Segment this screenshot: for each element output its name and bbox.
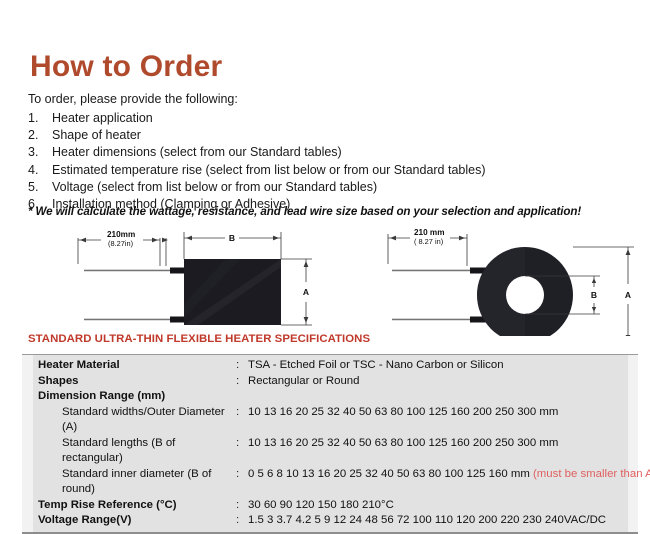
rect-lead-length-in: (8.27in) xyxy=(108,239,133,248)
list-item: 2. Shape of heater xyxy=(28,127,628,144)
row-colon: : xyxy=(236,405,248,421)
table-row: Heater Material : TSA - Etched Foil or T… xyxy=(22,358,638,374)
row-value: 30 60 90 120 150 180 210°C xyxy=(248,498,638,514)
row-colon: : xyxy=(236,374,248,390)
list-item-number: 5. xyxy=(28,179,52,196)
list-item: 1. Heater application xyxy=(28,110,628,127)
round-lead-length-mm: 210 mm xyxy=(414,228,445,237)
row-label: Standard widths/Outer Diameter (A) xyxy=(38,405,236,436)
list-item-label: Voltage (select from list below or from … xyxy=(52,179,628,196)
row-colon: : xyxy=(236,467,248,483)
list-item-number: 3. xyxy=(28,144,52,161)
row-value-with-warning: 0 5 6 8 10 13 16 20 25 32 40 50 63 80 10… xyxy=(248,467,650,483)
row-label: Heater Material xyxy=(38,358,236,374)
table-row: Voltage Range(V) : 1.5 3 3.7 4.2 5 9 12 … xyxy=(22,513,638,529)
table-row: Standard inner diameter (B of round) : 0… xyxy=(22,467,638,498)
list-item-label: Shape of heater xyxy=(52,127,628,144)
list-item-number: 1. xyxy=(28,110,52,127)
table-row: Dimension Range (mm) xyxy=(22,389,638,405)
row-value: TSA - Etched Foil or TSC - Nano Carbon o… xyxy=(248,358,638,374)
lead-crimp-top xyxy=(170,268,186,274)
row-colon: : xyxy=(236,513,248,529)
table-row: Temp Rise Reference (°C) : 30 60 90 120 … xyxy=(22,498,638,514)
row-colon: : xyxy=(236,358,248,374)
rect-height-label: A xyxy=(303,287,309,297)
list-item-label: Heater application xyxy=(52,110,628,127)
list-item: 4. Estimated temperature rise (select fr… xyxy=(28,162,628,179)
row-colon: : xyxy=(236,436,248,452)
list-item-label: Estimated temperature rise (select from … xyxy=(52,162,628,179)
row-value: 1.5 3 3.7 4.2 5 9 12 24 48 56 72 100 110… xyxy=(248,513,638,529)
table-row: Shapes : Rectangular or Round xyxy=(22,374,638,390)
row-value: 10 13 16 20 25 32 40 50 63 80 100 125 16… xyxy=(248,436,638,452)
row-label: Shapes xyxy=(38,374,236,390)
intro-text: To order, please provide the following: xyxy=(28,92,238,106)
lead-crimp-bottom xyxy=(170,317,186,323)
row-colon: : xyxy=(236,498,248,514)
list-item: 3. Heater dimensions (select from our St… xyxy=(28,144,628,161)
round-outer-diameter-label: A xyxy=(625,290,631,300)
table-row: Standard lengths (B of rectangular) : 10… xyxy=(22,436,638,467)
row-label: Temp Rise Reference (°C) xyxy=(38,498,236,514)
specifications-table: Heater Material : TSA - Etched Foil or T… xyxy=(22,354,638,534)
rect-width-label: B xyxy=(229,233,235,243)
row-label: Dimension Range (mm) xyxy=(38,389,236,405)
spec-section-heading: STANDARD ULTRA-THIN FLEXIBLE HEATER SPEC… xyxy=(28,333,370,345)
list-item-number: 2. xyxy=(28,127,52,144)
row-value: 0 5 6 8 10 13 16 20 25 32 40 50 63 80 10… xyxy=(248,468,530,480)
row-value: 10 13 16 20 25 32 40 50 63 80 100 125 16… xyxy=(248,405,638,421)
list-item-number: 4. xyxy=(28,162,52,179)
order-steps-list: 1. Heater application 2. Shape of heater… xyxy=(28,110,628,213)
row-value: Rectangular or Round xyxy=(248,374,638,390)
round-heater-inner-hole xyxy=(506,276,544,314)
page-title: How to Order xyxy=(30,52,222,82)
list-item: 5. Voltage (select from list below or fr… xyxy=(28,179,628,196)
heater-diagram-svg: 210mm (8.27in) B xyxy=(0,226,650,336)
round-heater-diagram: 210 mm ( 8.27 in) B xyxy=(388,228,634,336)
list-item-label: Heater dimensions (select from our Stand… xyxy=(52,144,628,161)
row-label: Standard inner diameter (B of round) xyxy=(38,467,236,498)
table-row: Standard widths/Outer Diameter (A) : 10 … xyxy=(22,405,638,436)
rect-lead-length-mm: 210mm xyxy=(107,230,135,239)
rectangular-heater-diagram: 210mm (8.27in) B xyxy=(78,230,312,325)
round-inner-diameter-label: B xyxy=(591,290,597,300)
row-label: Voltage Range(V) xyxy=(38,513,236,529)
calculation-note: * We will calculate the wattage, resista… xyxy=(28,205,581,218)
row-warning: (must be smaller than A) xyxy=(533,468,650,480)
heater-diagrams: 210mm (8.27in) B xyxy=(0,226,650,336)
round-lead-length-in: ( 8.27 in) xyxy=(414,237,443,246)
row-label: Standard lengths (B of rectangular) xyxy=(38,436,236,467)
